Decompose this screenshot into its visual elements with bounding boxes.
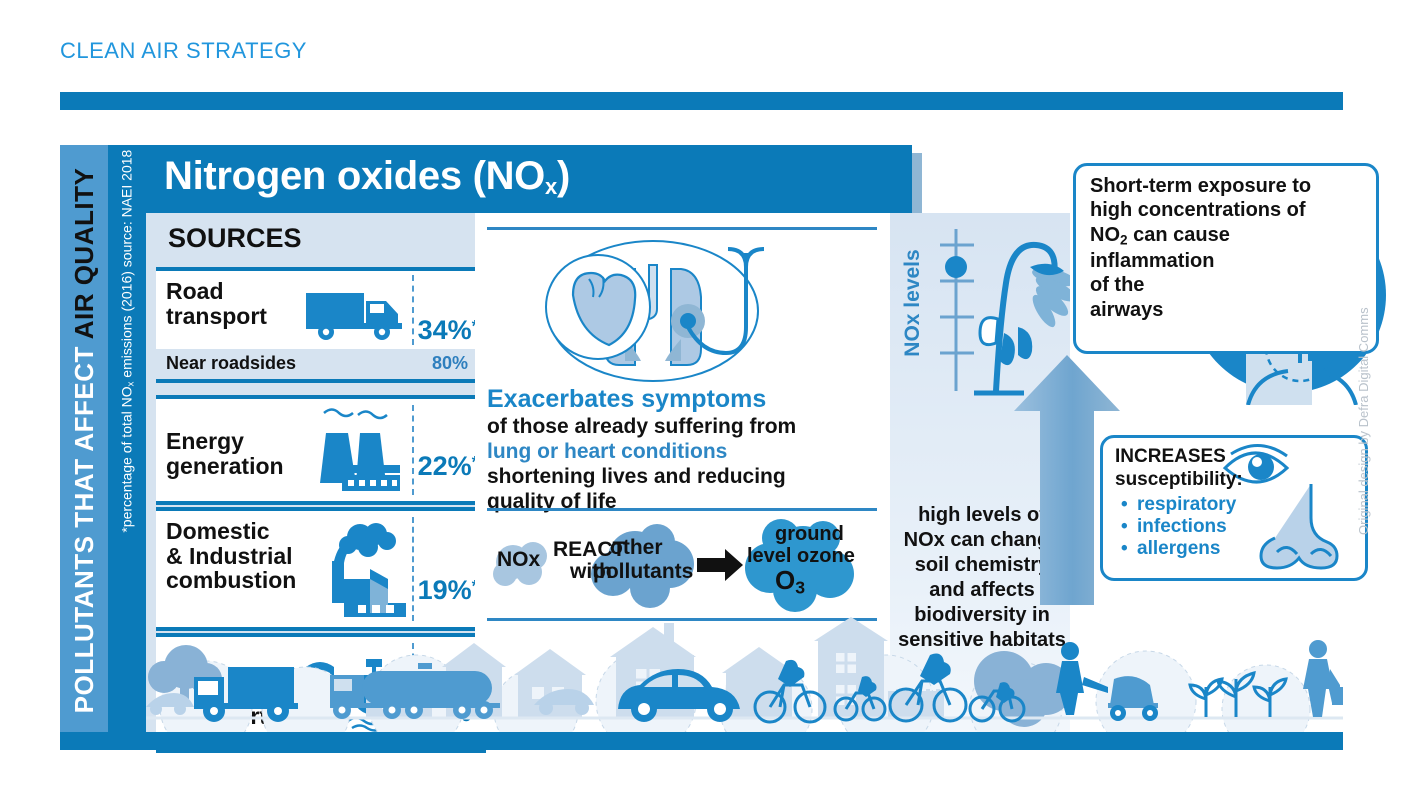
footnote-text: *percentage of total NOx emissions (2016… (118, 144, 136, 749)
source-subrow-near-roadsides: Near roadsides 80% (156, 349, 486, 379)
source-row-road-transport: Roadtransport 34%* Near roadsides 80% (156, 267, 486, 383)
callout-increases-susceptibility: INCREASES susceptibility: respiratory in… (1100, 435, 1368, 581)
health-line3: shortening lives and reducing (487, 464, 882, 489)
rule-top (487, 227, 877, 230)
footnote-band: *percentage of total NOx emissions (2016… (108, 145, 146, 750)
subrow-label: Near roadsides (166, 353, 296, 374)
ozone-line1-label: ground (775, 523, 844, 546)
nox-levels-axis-label: NOx levels (901, 218, 925, 388)
credit-text: Original design by Defra Digital Comms (1356, 275, 1371, 535)
source-percent: 34%* (418, 315, 478, 346)
source-percent: 19%* (418, 575, 478, 606)
bullet-item-cont: infections (1137, 516, 1243, 538)
bottom-bar-left (60, 732, 146, 750)
bottom-bar (146, 732, 1343, 750)
source-row-domestic-industrial: Domestic& Industrialcombustion 19%* (156, 507, 486, 631)
row-divider (412, 517, 414, 621)
truck-icon (304, 289, 408, 346)
vertical-title-band: POLLUTANTS THAT AFFECT AIR QUALITY (60, 145, 108, 750)
health-line1: of those already suffering from (487, 414, 882, 439)
sources-heading: SOURCES (156, 219, 456, 261)
source-row-energy-generation: Energygeneration 22%* (156, 395, 486, 505)
susceptibility-bullet-list: respiratory infections allergens (1115, 494, 1243, 561)
factory-icon (314, 521, 406, 624)
source-name: Domestic& Industrialcombustion (166, 519, 296, 593)
health-line2: lung or heart conditions (487, 440, 727, 463)
row-divider (412, 405, 414, 495)
source-name: Roadtransport (166, 279, 267, 328)
subrow-value: 80% (432, 353, 468, 374)
page-kicker: CLEAN AIR STRATEGY (60, 38, 307, 64)
title-shadow (912, 153, 922, 213)
power-station-icon (308, 407, 404, 500)
reaction-pollutants-label: pollutants (593, 560, 693, 584)
susceptibility-text: INCREASES susceptibility: respiratory in… (1115, 446, 1243, 561)
bullet-item: respiratory (1137, 494, 1243, 516)
title-bar: Nitrogen oxides (NOx) (146, 145, 912, 213)
health-heading: Exacerbates symptoms (487, 385, 882, 414)
reaction-nox-label: NOx (497, 548, 540, 572)
header-rule (60, 92, 1343, 110)
nose-icon (1249, 482, 1359, 574)
ozone-formula-label: O3 (775, 565, 805, 598)
callout-exposure-text: Short-term exposure to high concentratio… (1090, 174, 1311, 322)
page-title: Nitrogen oxides (NOx) (164, 154, 570, 200)
callout-short-term-exposure: Short-term exposure to high concentratio… (1073, 163, 1379, 354)
source-name: Energygeneration (166, 429, 284, 478)
row-divider (412, 275, 414, 345)
infographic-frame: POLLUTANTS THAT AFFECT AIR QUALITY *perc… (60, 145, 1343, 750)
vertical-title-text: POLLUTANTS THAT AFFECT AIR QUALITY (69, 138, 100, 743)
street-scene (146, 615, 1343, 732)
bullet-item: allergens (1137, 538, 1243, 560)
lungs-heart-stethoscope-icon (503, 235, 833, 390)
source-percent: 22%* (418, 451, 478, 482)
reaction-other-label: other (610, 536, 663, 560)
rule-middle (487, 508, 877, 511)
health-text-block: Exacerbates symptoms of those already su… (487, 385, 882, 515)
